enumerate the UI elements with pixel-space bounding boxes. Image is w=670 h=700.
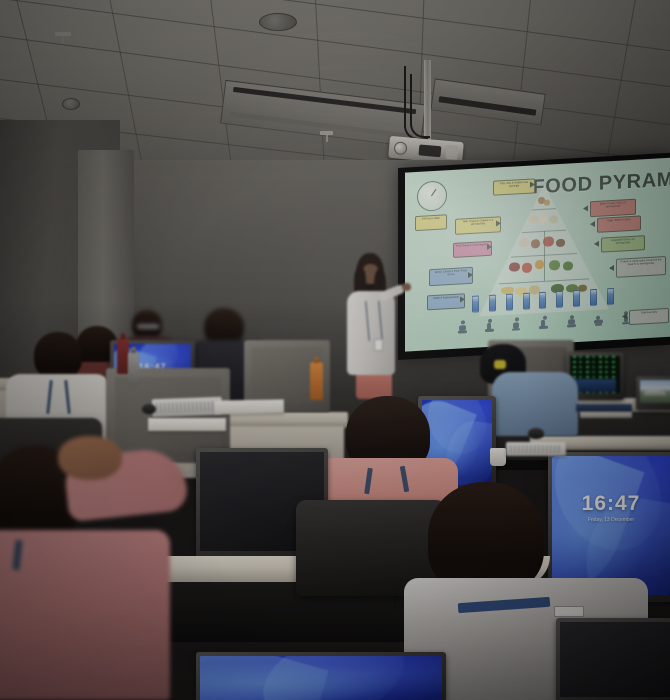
sprinkler-head-right	[320, 131, 333, 135]
monitor-bottom-right-screen	[560, 622, 670, 697]
water-glass	[489, 295, 496, 312]
callout-milk-yogurt: Milk, Yogurt & Cheese 2-3 servings/day	[455, 216, 501, 235]
water-glass	[472, 295, 479, 312]
books-right-2	[580, 412, 632, 418]
callout-arrow-eggs	[590, 221, 595, 227]
monitor-bottom-screen	[200, 656, 442, 700]
callout-protein-grain: Protein & whole grain should be the base…	[616, 256, 666, 278]
cap-logo-icon	[494, 360, 506, 369]
mouse-mid-right	[528, 428, 544, 439]
callout-arrow-meat	[583, 205, 588, 211]
callout-arrow-fruit	[487, 244, 492, 250]
callout-exercise: Exercise daily	[629, 308, 669, 325]
keyboard-back-mid	[152, 397, 223, 417]
exercise-figure	[512, 317, 521, 331]
monitor-landscape	[636, 376, 670, 410]
projected-slide: FOOD PYRAM 6-8 hours sleep	[405, 158, 670, 352]
monitor-landscape-screen	[640, 380, 670, 403]
monitor-bottom-right	[556, 618, 670, 700]
callout-arrow-water	[460, 296, 465, 302]
callout-clock-label: 6-8 hours sleep	[415, 214, 447, 231]
callout-meat-poultry: Meat, Poultry, Fish 2-3 servings/day	[590, 199, 636, 218]
water-glass	[607, 288, 614, 305]
water-bottle-steel	[128, 352, 139, 386]
student-front-pink-hand	[58, 436, 122, 480]
callout-eggs-nuts: Eggs, Beans & Nuts	[597, 215, 641, 232]
student-white-head	[34, 332, 82, 380]
presenter	[340, 253, 406, 398]
monitor-bottom	[196, 652, 446, 700]
callout-arrow-milk	[496, 220, 501, 226]
water-glass	[590, 289, 597, 306]
exercise-figure	[485, 319, 494, 333]
callout-arrow-fats	[530, 181, 535, 187]
presenter-id-badge	[374, 339, 383, 351]
classroom-scene: FOOD PYRAM 6-8 hours sleep	[0, 0, 670, 700]
water-glass	[523, 293, 530, 310]
water-glass	[539, 292, 546, 309]
projector-cable-2	[410, 74, 430, 138]
student-bottom-badge	[554, 606, 584, 617]
student-blue-body	[492, 372, 578, 436]
ceiling-dome-small	[62, 98, 80, 110]
student-front-pink-body	[0, 530, 170, 700]
water-glass	[573, 290, 580, 307]
callout-fats-oils: Fats, Oils & Sweets Use sparingly	[493, 178, 535, 195]
projection-screen: FOOD PYRAM 6-8 hours sleep	[398, 153, 670, 360]
callout-arrow-protein	[609, 265, 614, 271]
exercise-figure	[458, 320, 467, 334]
books-right	[576, 404, 632, 412]
exercise-figure	[567, 314, 576, 328]
exercise-figure	[594, 313, 603, 327]
callout-arrow-vegetable	[594, 241, 599, 247]
slide-clock-icon	[417, 180, 447, 212]
water-glass	[556, 291, 563, 308]
sprinkler-head-left	[55, 32, 71, 36]
ac-vent-right	[430, 78, 545, 125]
callout-vegetable-group: Vegetable Group 3-5 servings/day	[601, 235, 645, 252]
water-glass	[506, 294, 513, 311]
water-bottle-orange	[310, 362, 323, 400]
callout-bread-cereal: Bread, Cereal & Rice, Pasta Group	[429, 267, 473, 286]
papers-back-mid	[214, 399, 284, 414]
callout-arrow-exercise	[622, 313, 627, 319]
exercise-figure	[539, 316, 548, 330]
callout-arrow-bread	[468, 272, 473, 278]
keyboard-mid-right	[506, 442, 566, 456]
mouse-back-mid	[142, 404, 156, 414]
ceiling-speaker	[259, 13, 297, 31]
presenter-hand	[402, 283, 411, 291]
coffee-cup	[490, 448, 506, 466]
